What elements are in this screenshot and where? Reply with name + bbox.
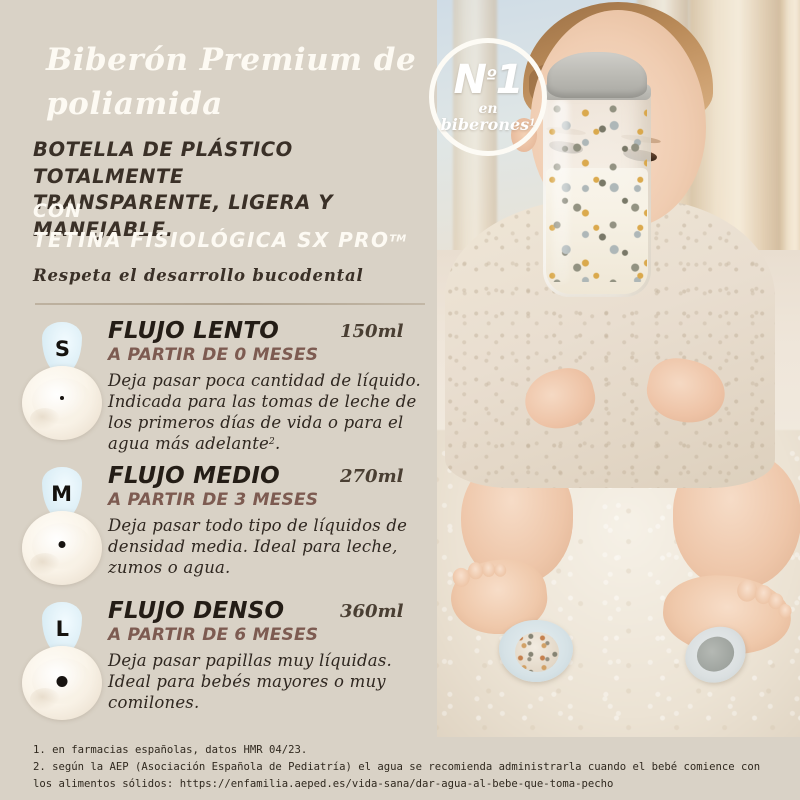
flow-description: Deja pasar todo tipo de líquidos de dens… [108,515,428,578]
teat-hole [57,676,68,687]
con-label: CON [33,200,82,222]
teat-hole [59,541,66,548]
flow-icon-group: L [22,598,100,720]
flow-description-text: Deja pasar poca cantidad de líquido. Ind… [108,371,421,453]
patterned-pacifier [499,620,573,682]
badge-footnote-ref: 1 [529,118,535,128]
footnote-2: 2. según la AEP (Asociación Española de … [33,759,773,793]
flow-title: FLUJO LENTO [108,318,279,344]
droplet-letter: M [52,485,73,506]
flow-title: FLUJO DENSO [108,598,284,624]
badge-ordinal: º [486,66,496,88]
teat-hole [60,396,64,400]
flow-volume: 270ml [340,466,403,487]
baby-bottle [543,42,651,297]
product-infographic: Nº1 en biberones1 Biberón Premium de pol… [0,0,800,800]
footnotes: 1. en farmacias españolas, datos HMR 04/… [33,742,773,793]
bottle-highlight [553,98,569,284]
footnote-1: 1. en farmacias españolas, datos HMR 04/… [33,742,773,759]
flow-title: FLUJO MEDIO [108,463,280,489]
flow-volume: 150ml [340,321,403,342]
info-column: Biberón Premium de poliamida BOTELLA DE … [0,0,437,800]
title-line-1: Biberón Premium de [46,38,426,82]
pacifier-pattern [515,632,559,672]
headline-line-1: BOTELLA DE PLÁSTICO TOTALMENTE [33,137,433,190]
badge-rank: Nº1 [453,60,522,100]
flow-description: Deja pasar poca cantidad de líquido. Ind… [108,370,428,454]
section-divider [35,303,425,305]
flow-volume: 360ml [340,601,403,622]
bottle-cap [547,52,647,98]
trademark-symbol: TM [389,234,406,245]
flow-age: A PARTIR DE 6 MESES [108,625,318,645]
flow-icon-group: M [22,463,100,585]
droplet-letter: L [55,620,68,641]
teat-name: TETINA FISIOLÓGICA SX PROTM [33,228,406,252]
toe [778,604,792,619]
teat-medium-flow-icon [22,511,102,585]
flow-age: A PARTIR DE 0 MESES [108,345,318,365]
tagline: Respeta el desarrollo bucodental [33,266,364,285]
title-line-2: poliamida [46,82,426,126]
teat-name-text: TETINA FISIOLÓGICA SX PRO [33,228,389,252]
flow-description-text: Deja pasar todo tipo de líquidos de dens… [108,516,407,577]
badge-category-text: biberones [441,115,530,134]
badge-category: biberones1 [441,117,536,134]
flow-age: A PARTIR DE 3 MESES [108,490,318,510]
flow-description-end: . [275,434,280,453]
teat-slow-flow-icon [22,366,102,440]
page-title: Biberón Premium de poliamida [46,38,426,126]
number-one-badge: Nº1 en biberones1 [429,38,547,156]
flow-description-text: Deja pasar papillas muy líquidas. Ideal … [108,651,392,712]
droplet-letter: S [54,340,69,361]
toe [494,563,507,577]
badge-rank-number: 1 [496,57,523,103]
flow-description: Deja pasar papillas muy líquidas. Ideal … [108,650,428,713]
badge-n-letter: N [453,57,485,103]
teat-thick-flow-icon [22,646,102,720]
flow-icon-group: S [22,318,100,440]
